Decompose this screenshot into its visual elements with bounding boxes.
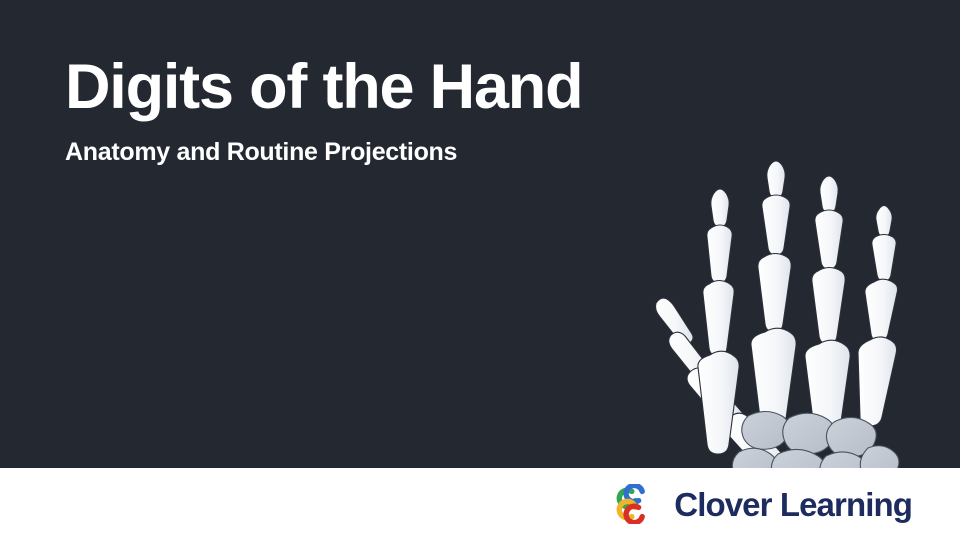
- slide-footer-bar: Clover Learning: [0, 468, 960, 540]
- hand-skeleton-illustration: [644, 160, 960, 468]
- carpal-bones: [732, 412, 899, 469]
- clover-petal-red: [626, 506, 642, 522]
- middle-digit: [751, 161, 796, 436]
- ring-digit: [805, 176, 850, 446]
- clover-learning-logo[interactable]: Clover Learning: [614, 484, 912, 524]
- index-digit: [698, 189, 739, 454]
- presentation-slide: Digits of the Hand Anatomy and Routine P…: [0, 0, 960, 540]
- slide-subtitle: Anatomy and Routine Projections: [65, 140, 457, 165]
- clover-logo-wordmark: Clover Learning: [674, 488, 912, 521]
- slide-title: Digits of the Hand: [65, 56, 582, 119]
- clover-logo-mark: [614, 484, 660, 524]
- thumb-digit: [656, 298, 792, 468]
- slide-dark-stage: Digits of the Hand Anatomy and Routine P…: [0, 0, 960, 468]
- little-digit: [858, 206, 898, 427]
